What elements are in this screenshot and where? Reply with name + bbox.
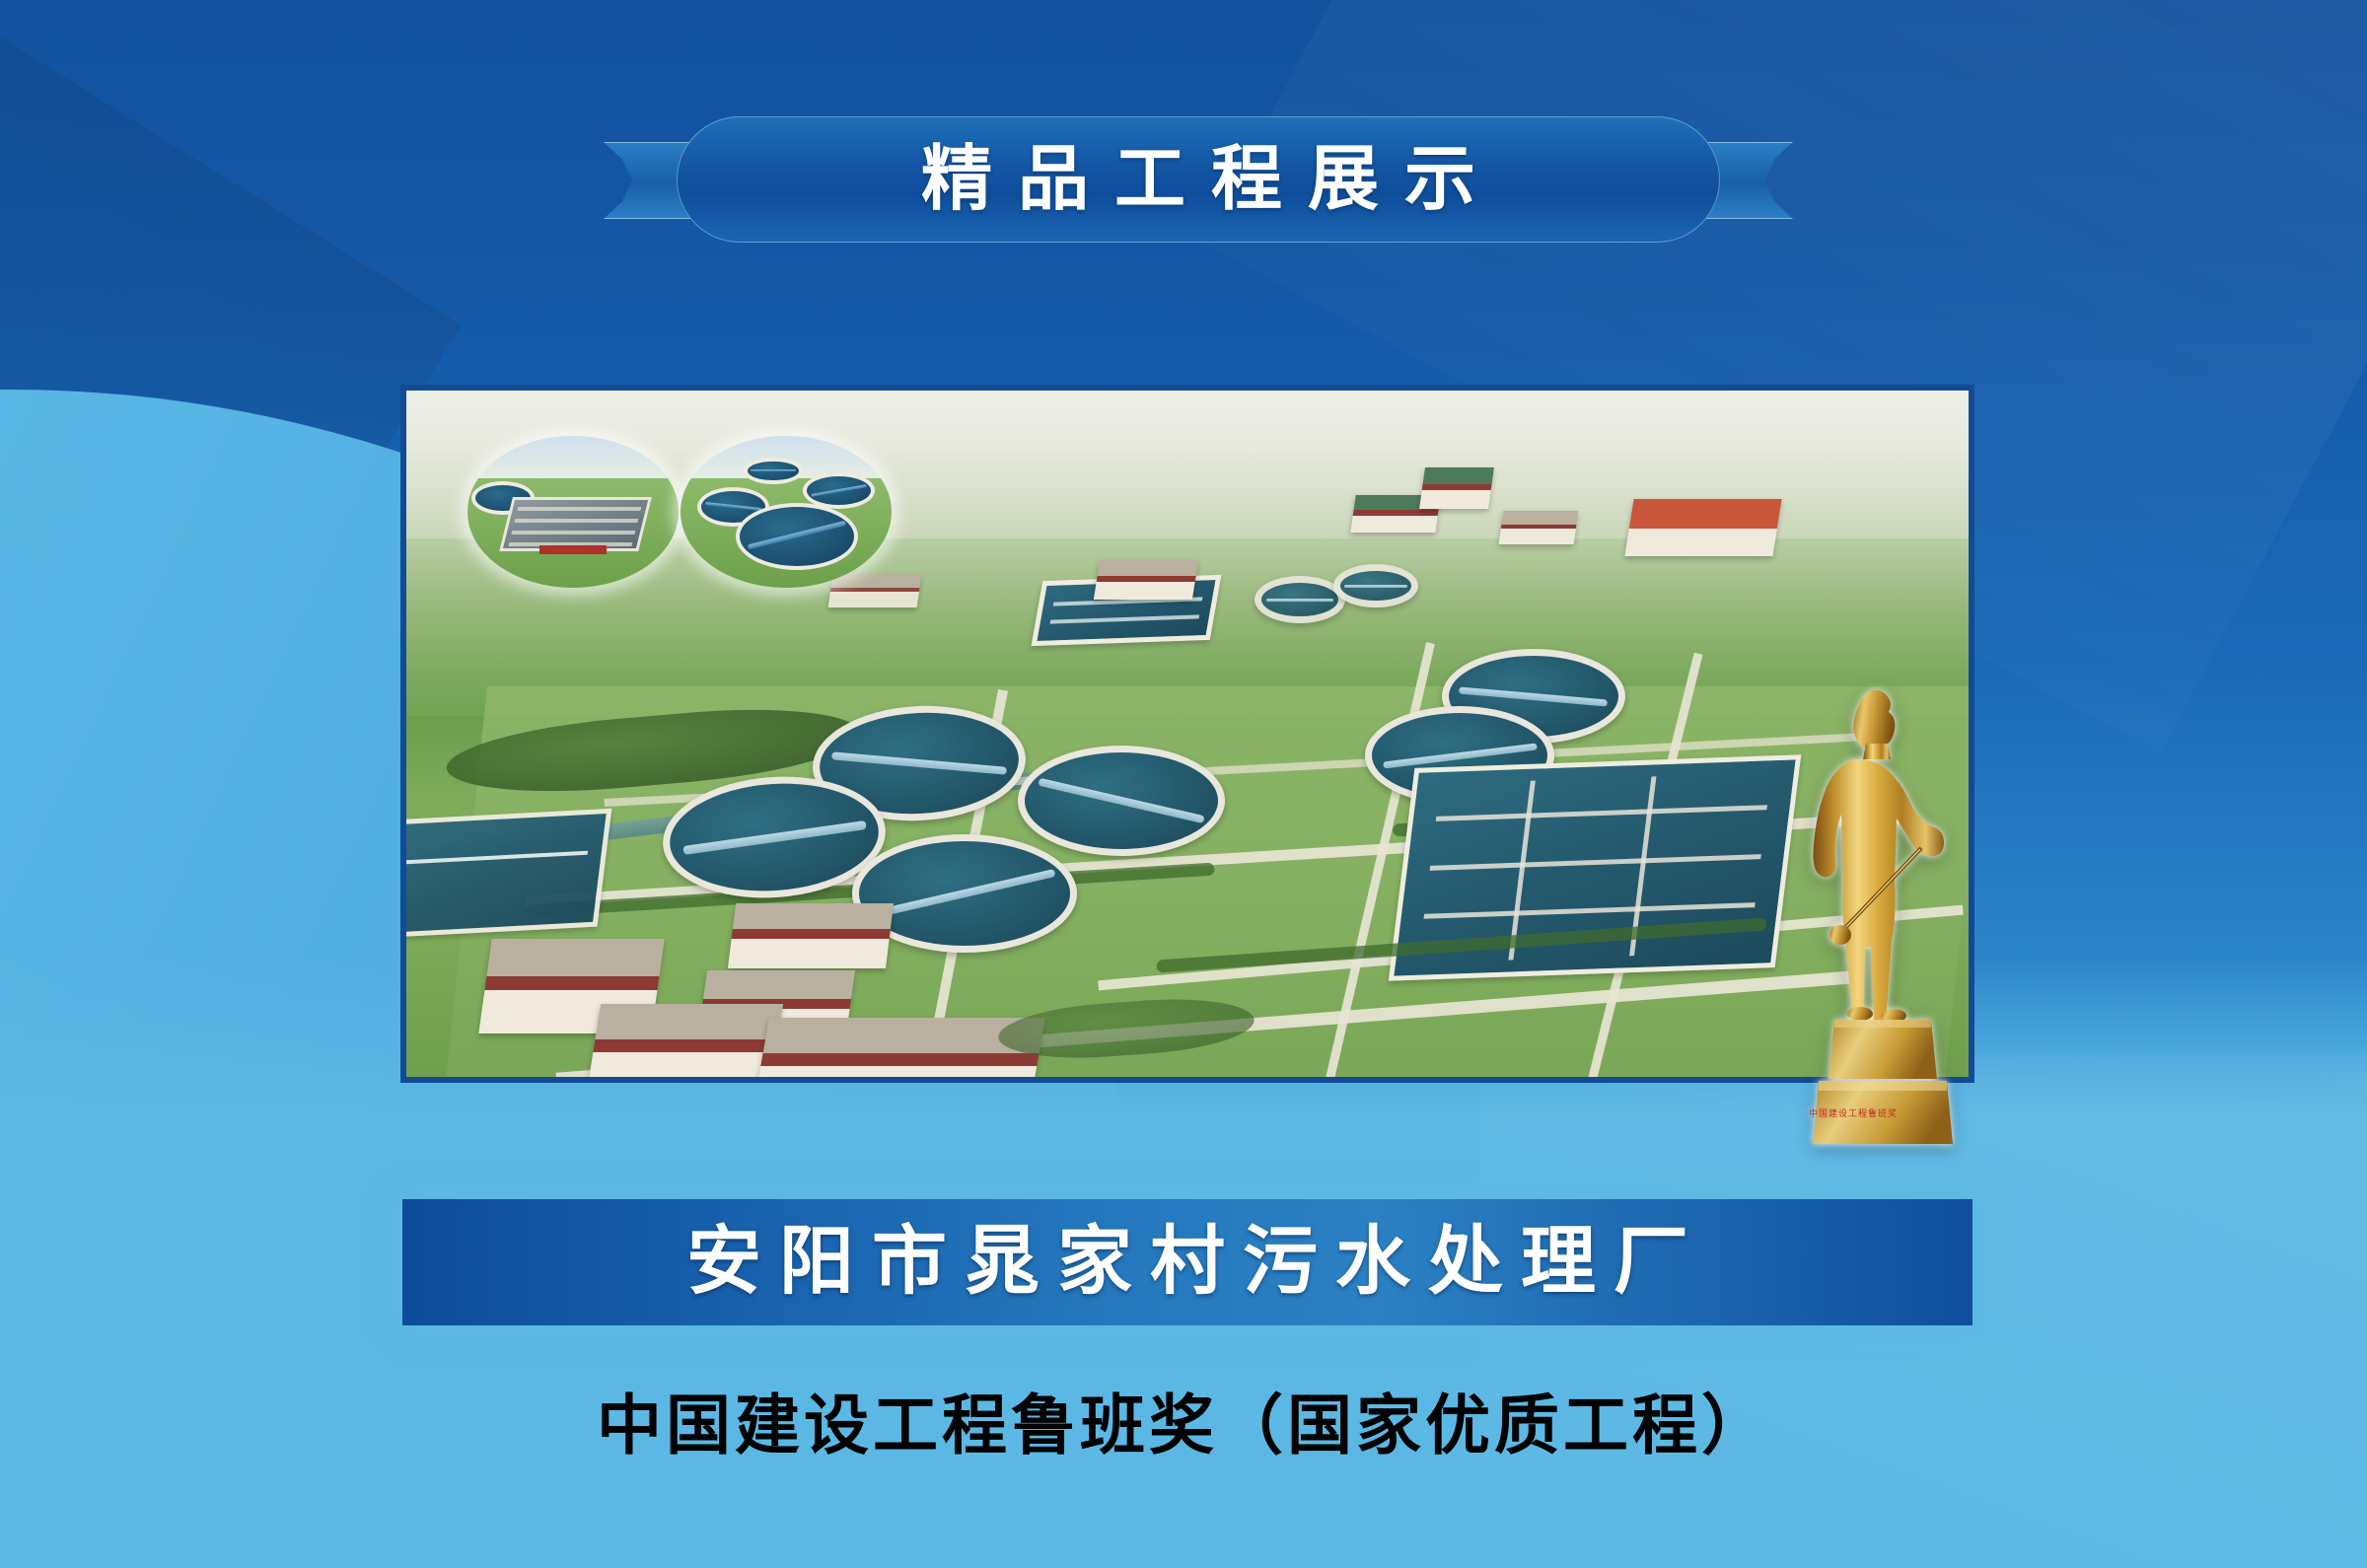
photo-building [753, 1018, 1045, 1077]
project-title-bar: 安阳市晁家村污水处理厂 [402, 1199, 1972, 1325]
project-title: 安阳市晁家村污水处理厂 [669, 1225, 1706, 1300]
photo-building [1094, 560, 1198, 600]
photo-building [1499, 511, 1579, 544]
photo-building [728, 903, 894, 968]
header-banner: 精品工程展示 [611, 116, 1785, 243]
photo-building [1419, 467, 1494, 509]
photo-building-red-roof [1624, 499, 1781, 556]
inset-oval-photo-2 [681, 436, 892, 588]
statue-pedestal-text: 中国建设工程鲁班奖 [1809, 1106, 1933, 1118]
award-subtitle: 中国建设工程鲁班奖（国家优质工程） [0, 1373, 2367, 1467]
inset-oval-photo-1 [467, 436, 679, 588]
main-photo-frame [400, 385, 1974, 1083]
header-title: 精品工程展示 [896, 144, 1501, 215]
photo-clarifier [1018, 746, 1225, 856]
photo-clarifier [1333, 564, 1418, 607]
header-banner-pill: 精品工程展示 [677, 116, 1720, 243]
inset-oval-1-sign [539, 545, 607, 554]
photo-rect-basin [406, 809, 611, 939]
luban-award-statue-icon: 中国建设工程鲁班奖 [1783, 680, 1971, 1183]
photo-clarifier [1255, 576, 1345, 623]
photo-building [587, 1004, 783, 1077]
main-photo [406, 391, 1969, 1077]
poster-root: 精品工程展示 [0, 0, 2367, 1568]
